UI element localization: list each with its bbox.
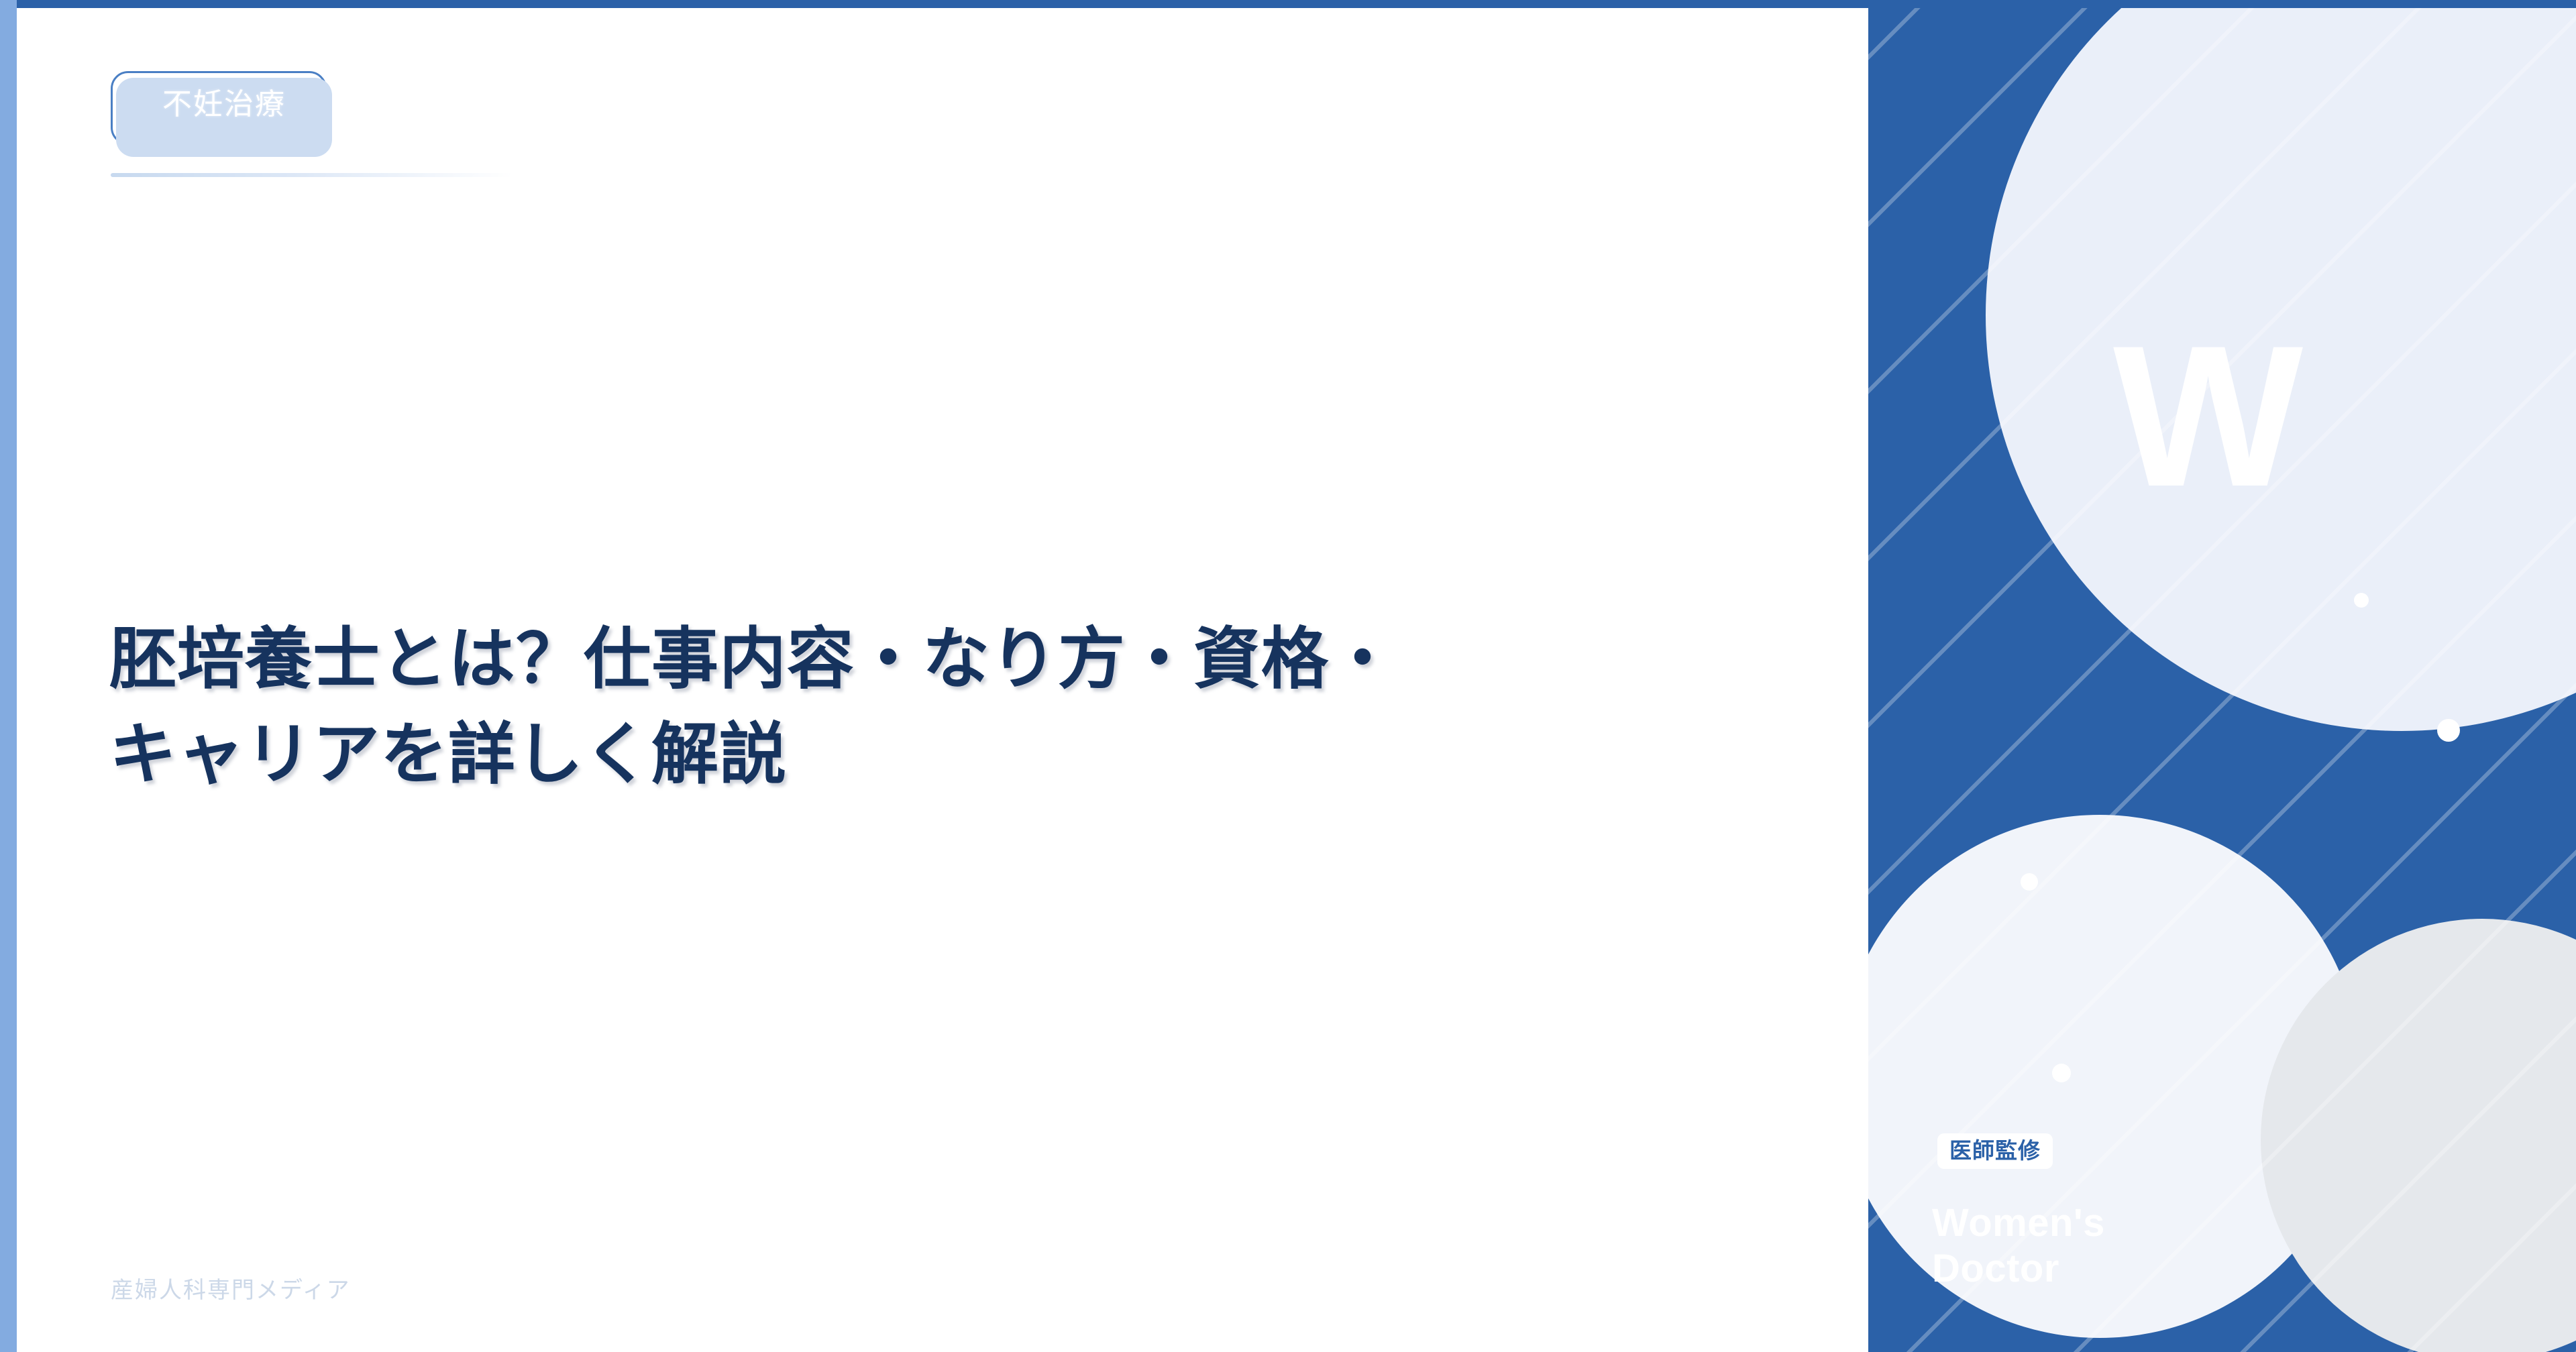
category-tag-label: 不妊治療	[162, 90, 286, 119]
hero-thumbnail-canvas: W 医師監修 Women's Doctor 不妊治療 胚培養士とは？仕事内容・な…	[0, 0, 2576, 1352]
page-title: 胚培養士とは？仕事内容・なり方・資格・ キャリアを詳しく解説	[109, 612, 1652, 802]
supervision-badge: 医師監修	[1937, 1133, 2053, 1169]
page-title-line-2: キャリアを詳しく解説	[109, 707, 1652, 802]
top-accent-bar	[17, 0, 2576, 8]
tag-divider	[111, 173, 513, 177]
brand-logo-line-2: Doctor	[1932, 1246, 2105, 1292]
brand-watermark-letter: W	[2113, 315, 2300, 516]
decorative-dot	[2052, 1064, 2071, 1082]
category-tag-fill: 不妊治療	[116, 78, 332, 157]
brand-logo: Women's Doctor	[1932, 1200, 2105, 1292]
decorative-dot	[2437, 719, 2460, 742]
decorative-dot	[2021, 873, 2038, 891]
content-card: 不妊治療 胚培養士とは？仕事内容・なり方・資格・ キャリアを詳しく解説 産婦人科…	[17, 8, 1868, 1352]
page-title-line-1: 胚培養士とは？仕事内容・なり方・資格・	[109, 612, 1652, 707]
footer-tagline: 産婦人科専門メディア	[111, 1279, 351, 1302]
decorative-dot	[2354, 593, 2369, 608]
brand-logo-line-1: Women's	[1932, 1200, 2105, 1246]
left-accent-bar	[0, 0, 17, 1352]
category-tag[interactable]: 不妊治療	[111, 71, 332, 158]
